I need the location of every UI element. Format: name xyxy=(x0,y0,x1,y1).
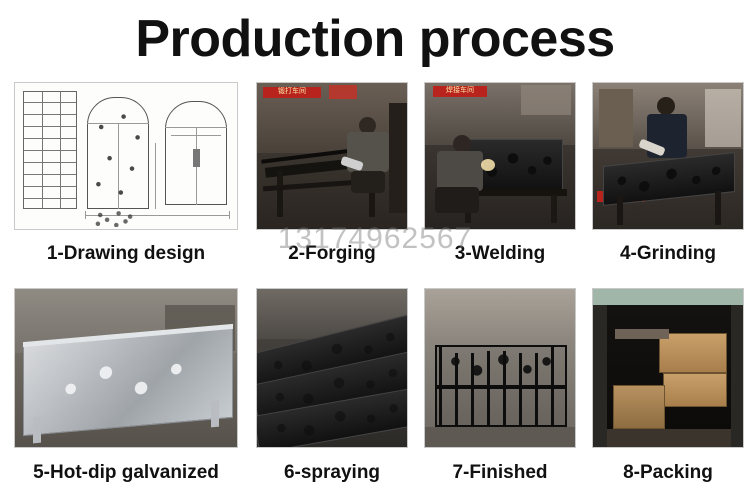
page-title: Production process xyxy=(0,8,750,70)
step-caption-1: 1-Drawing design xyxy=(14,243,238,265)
step-image-3: 焊接车间 xyxy=(424,82,576,230)
step-image-2: 锻打车间 xyxy=(256,82,408,230)
step-caption-5: 5-Hot-dip galvanized xyxy=(14,462,238,484)
step-image-4: 打磨车间 xyxy=(592,82,744,230)
step-image-5 xyxy=(14,288,238,448)
step-caption-6: 6-spraying xyxy=(256,462,408,484)
step-caption-7: 7-Finished xyxy=(424,462,576,484)
step-caption-3: 3-Welding xyxy=(424,243,576,265)
step-caption-8: 8-Packing xyxy=(592,462,744,484)
workshop-banner-3: 焊接车间 xyxy=(433,86,487,97)
step-image-1 xyxy=(14,82,238,230)
step-image-8 xyxy=(592,288,744,448)
step-caption-2: 2-Forging xyxy=(256,243,408,265)
step-caption-4: 4-Grinding xyxy=(592,243,744,265)
poster-root: Production process xyxy=(0,0,750,500)
workshop-banner-2: 锻打车间 xyxy=(263,87,321,98)
step-image-6 xyxy=(256,288,408,448)
step-image-7 xyxy=(424,288,576,448)
